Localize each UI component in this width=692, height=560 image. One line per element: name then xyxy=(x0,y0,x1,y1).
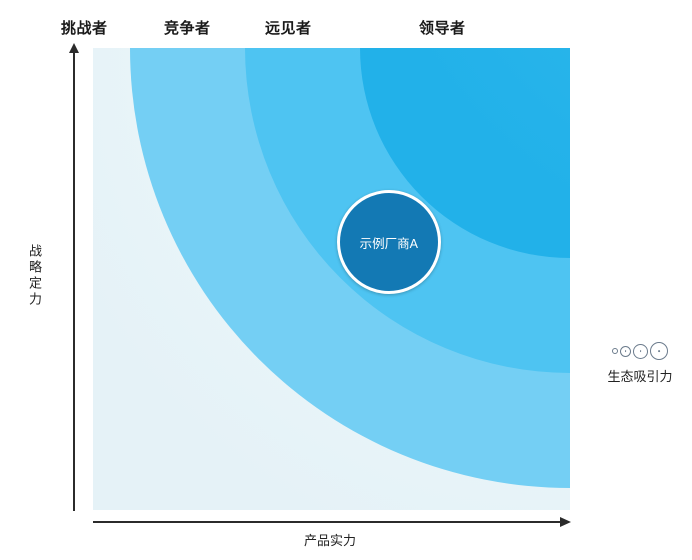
vendor-bubble-example-a[interactable]: 示例厂商A xyxy=(337,190,441,294)
tier-label-visionary: 远见者 xyxy=(265,17,312,38)
size-legend-marker-dot xyxy=(625,350,627,352)
y-axis-line xyxy=(73,52,75,511)
size-legend-marker-2 xyxy=(620,346,631,357)
tier-label-challenger: 挑战者 xyxy=(61,17,108,38)
tier-label-leader: 领导者 xyxy=(419,17,466,38)
x-axis-arrow-icon xyxy=(560,517,571,527)
y-axis-title: 战略定力 xyxy=(26,244,44,308)
size-legend-symbols xyxy=(592,340,688,362)
size-legend-marker-dot xyxy=(658,350,660,352)
size-legend-marker-4 xyxy=(650,342,668,360)
size-legend-marker-1 xyxy=(612,348,618,354)
size-legend: 生态吸引力 xyxy=(592,340,688,385)
x-axis-title: 产品实力 xyxy=(0,530,660,549)
size-legend-marker-3 xyxy=(633,344,648,359)
size-legend-title: 生态吸引力 xyxy=(592,366,688,385)
size-legend-marker-dot xyxy=(640,350,642,352)
vendor-bubble-label: 示例厂商A xyxy=(360,233,418,252)
tier-label-competitor: 竞争者 xyxy=(164,17,211,38)
plot-area xyxy=(93,48,570,510)
x-axis-line xyxy=(93,521,564,523)
y-axis-arrow-icon xyxy=(69,43,79,53)
magic-quadrant-chart: 挑战者 竞争者 远见者 领导者 xyxy=(0,0,692,560)
tier-bands xyxy=(93,48,570,510)
